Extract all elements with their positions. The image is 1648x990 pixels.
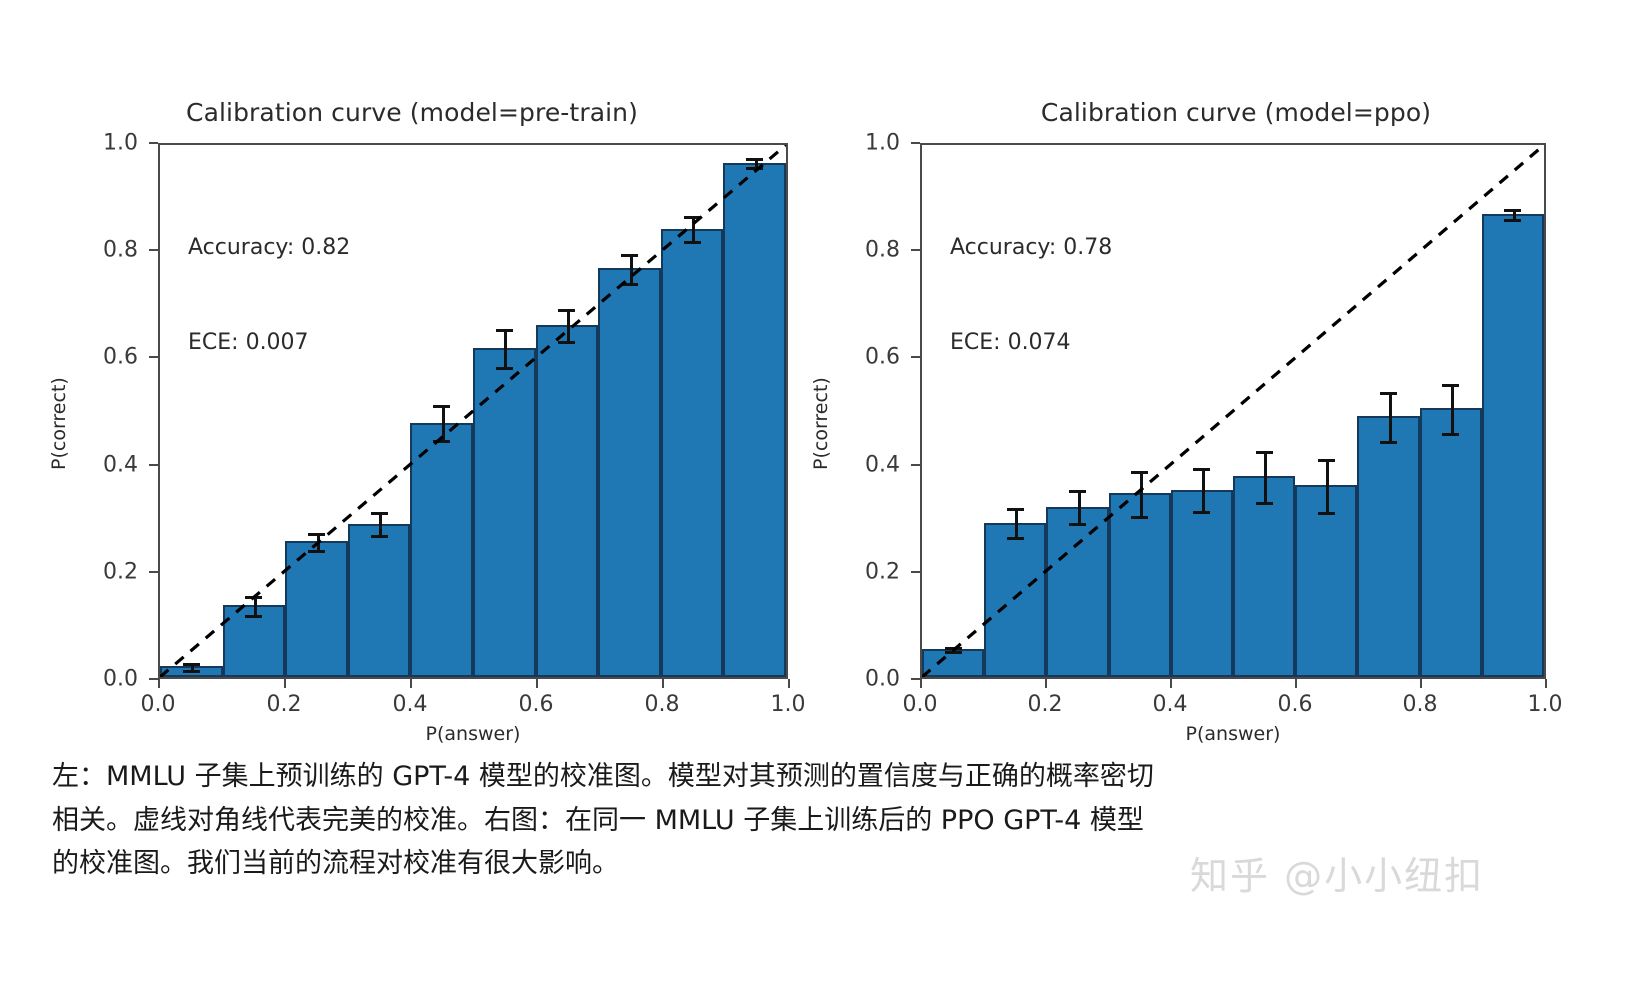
y-tick-mark — [149, 464, 158, 466]
x-tick-label: 0.6 — [519, 692, 554, 717]
y-tick-label: 1.0 — [848, 131, 900, 156]
caption-line: 的校准图。我们当前的流程对校准有很大影响。 — [52, 842, 1172, 886]
chart-title-pretrain: Calibration curve (model=pre-train) — [0, 98, 824, 127]
y-tick-label: 0.6 — [86, 345, 138, 370]
figure-caption: 左：MMLU 子集上预训练的 GPT-4 模型的校准图。模型对其预测的置信度与正… — [52, 755, 1172, 886]
y-tick-label: 0.4 — [848, 452, 900, 477]
x-tick-mark — [920, 679, 922, 688]
y-tick-label: 0.0 — [848, 667, 900, 692]
y-tick-mark — [911, 142, 920, 144]
x-tick-mark — [1045, 679, 1047, 688]
ece-text: ECE: 0.007 — [188, 327, 350, 359]
y-tick-label: 0.2 — [848, 559, 900, 584]
x-tick-mark — [1420, 679, 1422, 688]
x-tick-label: 0.0 — [141, 692, 176, 717]
y-tick-label: 0.2 — [86, 559, 138, 584]
x-tick-mark — [284, 679, 286, 688]
y-tick-mark — [149, 356, 158, 358]
y-tick-label: 0.8 — [86, 238, 138, 263]
x-tick-label: 0.2 — [267, 692, 302, 717]
x-axis-label-ppo: P(answer) — [1186, 723, 1281, 745]
x-tick-label: 0.8 — [1403, 692, 1438, 717]
caption-line: 相关。虚线对角线代表完美的校准。右图：在同一 MMLU 子集上训练后的 PPO … — [52, 799, 1172, 843]
y-tick-mark — [149, 678, 158, 680]
chart-panel-pretrain: Calibration curve (model=pre-train) 1.0 … — [0, 0, 824, 760]
x-axis-label-pretrain: P(answer) — [426, 723, 521, 745]
y-tick-label: 0.4 — [86, 452, 138, 477]
x-tick-label: 0.0 — [903, 692, 938, 717]
x-tick-mark — [410, 679, 412, 688]
y-tick-mark — [149, 249, 158, 251]
accuracy-text: Accuracy: 0.78 — [950, 232, 1112, 264]
x-tick-label: 0.8 — [645, 692, 680, 717]
x-tick-mark — [1545, 679, 1547, 688]
y-tick-label: 0.6 — [848, 345, 900, 370]
x-tick-label: 1.0 — [771, 692, 806, 717]
x-tick-mark — [1170, 679, 1172, 688]
y-tick-label: 1.0 — [86, 131, 138, 156]
y-tick-mark — [149, 571, 158, 573]
stats-annotation-ppo: Accuracy: 0.78 ECE: 0.074 — [950, 168, 1112, 423]
x-tick-label: 1.0 — [1528, 692, 1563, 717]
x-tick-mark — [788, 679, 790, 688]
x-tick-label: 0.6 — [1278, 692, 1313, 717]
y-tick-mark — [911, 464, 920, 466]
x-tick-mark — [536, 679, 538, 688]
y-tick-label: 0.8 — [848, 238, 900, 263]
x-tick-mark — [158, 679, 160, 688]
y-axis-label-pretrain: P(correct) — [48, 377, 70, 470]
y-tick-mark — [911, 571, 920, 573]
caption-line: 左：MMLU 子集上预训练的 GPT-4 模型的校准图。模型对其预测的置信度与正… — [52, 755, 1172, 799]
x-tick-label: 0.2 — [1028, 692, 1063, 717]
x-tick-label: 0.4 — [393, 692, 428, 717]
y-tick-label: 0.0 — [86, 667, 138, 692]
zhihu-watermark: 知乎 @小小纽扣 — [1190, 845, 1484, 900]
x-tick-mark — [662, 679, 664, 688]
x-tick-mark — [1295, 679, 1297, 688]
y-tick-mark — [911, 356, 920, 358]
y-axis-label-ppo: P(correct) — [810, 377, 832, 470]
chart-panel-ppo: Calibration curve (model=ppo) 1.0 0.8 0.… — [824, 0, 1648, 760]
x-tick-label: 0.4 — [1153, 692, 1188, 717]
chart-title-ppo: Calibration curve (model=ppo) — [824, 98, 1648, 127]
y-tick-mark — [149, 142, 158, 144]
y-tick-mark — [911, 678, 920, 680]
ece-text: ECE: 0.074 — [950, 327, 1112, 359]
figure-container: Calibration curve (model=pre-train) 1.0 … — [0, 0, 1648, 760]
stats-annotation-pretrain: Accuracy: 0.82 ECE: 0.007 — [188, 168, 350, 423]
accuracy-text: Accuracy: 0.82 — [188, 232, 350, 264]
y-tick-mark — [911, 249, 920, 251]
